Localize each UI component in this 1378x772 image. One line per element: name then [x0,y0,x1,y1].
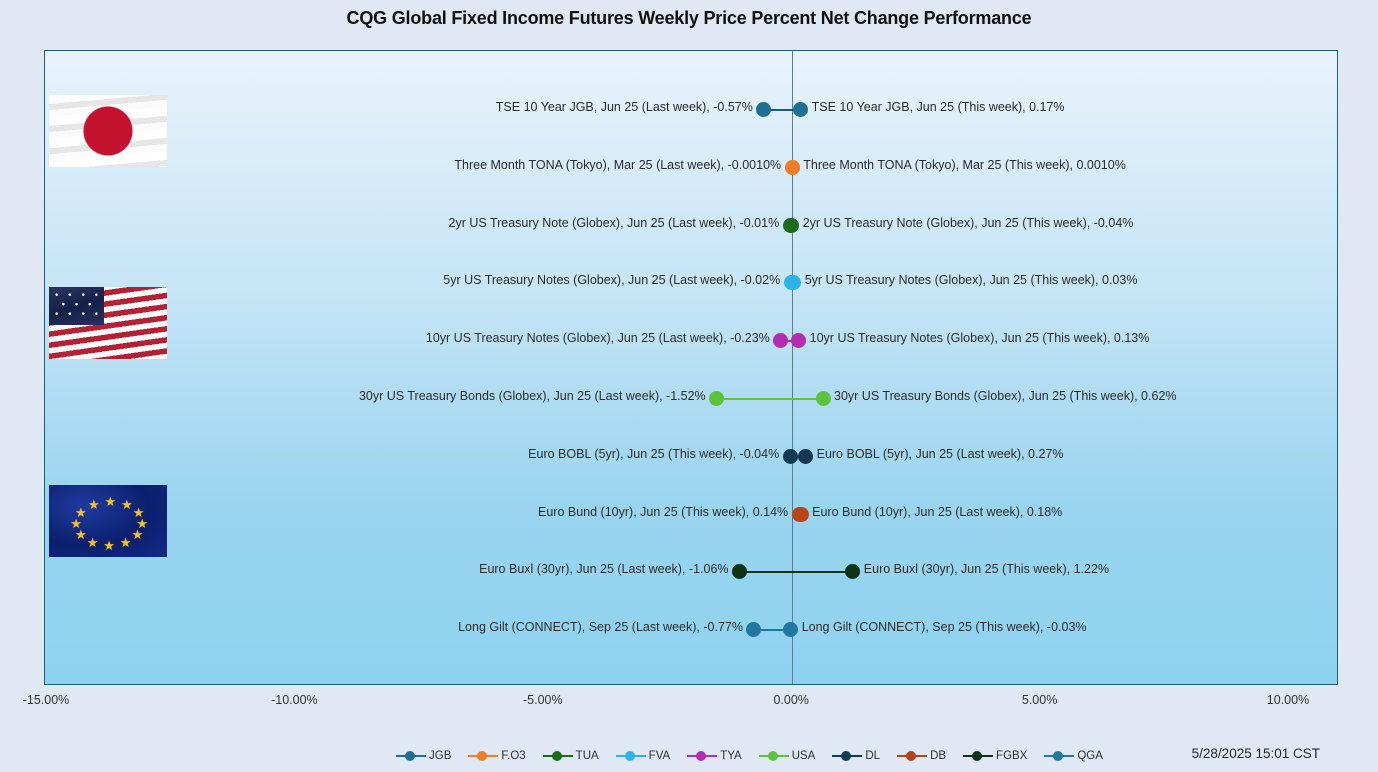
data-point-left[interactable] [773,333,788,348]
data-point-right[interactable] [783,622,798,637]
x-axis: -15.00%-10.00%-5.00%0.00%5.00%10.00% [0,693,1378,715]
data-point-label-left: Euro Bund (10yr), Jun 25 (This week), 0.… [538,505,788,519]
data-point-label-right: Three Month TONA (Tokyo), Mar 25 (This w… [803,158,1126,172]
legend-label: JGB [429,750,451,762]
chart-legend: JGBF.O3TUAFVATYAUSADLDBFGBXQGA [0,746,1378,768]
data-point-right[interactable] [786,275,801,290]
x-axis-tick-label: -5.00% [523,693,563,707]
legend-label: TYA [720,750,742,762]
data-point-label-left: 30yr US Treasury Bonds (Globex), Jun 25 … [359,389,706,403]
legend-marker-icon [616,751,646,762]
data-point-label-right: Euro Buxl (30yr), Jun 25 (This week), 1.… [864,562,1109,576]
data-point-right[interactable] [791,333,806,348]
legend-label: FVA [649,750,671,762]
data-point-left[interactable] [746,622,761,637]
data-point-right[interactable] [793,102,808,117]
data-point-label-left: Euro Buxl (30yr), Jun 25 (Last week), -1… [479,562,728,576]
data-point-label-left: 10yr US Treasury Notes (Globex), Jun 25 … [426,331,770,345]
data-point-right[interactable] [794,507,809,522]
legend-item[interactable]: JGB [396,750,451,762]
data-point-right[interactable] [845,564,860,579]
series-row: Euro Buxl (30yr), Jun 25 (Last week), -1… [45,543,1337,601]
legend-item[interactable]: USA [759,750,816,762]
data-point-left[interactable] [709,391,724,406]
legend-marker-icon [396,751,426,762]
series-row: Three Month TONA (Tokyo), Mar 25 (Last w… [45,139,1337,197]
page-title: CQG Global Fixed Income Futures Weekly P… [0,8,1378,29]
legend-item[interactable]: QGA [1044,750,1103,762]
legend-marker-icon [832,751,862,762]
data-point-label-left: 2yr US Treasury Note (Globex), Jun 25 (L… [449,216,780,230]
legend-item[interactable]: F.O3 [468,750,525,762]
series-row: 5yr US Treasury Notes (Globex), Jun 25 (… [45,254,1337,312]
legend-marker-icon [897,751,927,762]
series-row: Euro BOBL (5yr), Jun 25 (This week), -0.… [45,428,1337,486]
x-axis-tick-label: -10.00% [271,693,318,707]
x-axis-tick-label: -15.00% [23,693,70,707]
legend-label: QGA [1077,750,1103,762]
data-point-label-right: Euro Bund (10yr), Jun 25 (Last week), 0.… [812,505,1062,519]
legend-label: DL [865,750,880,762]
legend-marker-icon [963,751,993,762]
legend-label: FGBX [996,750,1027,762]
legend-marker-icon [1044,751,1074,762]
legend-label: F.O3 [501,750,525,762]
data-point-label-right: Long Gilt (CONNECT), Sep 25 (This week),… [802,620,1087,634]
legend-item[interactable]: DB [897,750,946,762]
data-point-right[interactable] [783,218,798,233]
legend-item[interactable]: TUA [543,750,599,762]
data-point-right[interactable] [785,160,800,175]
legend-marker-icon [468,751,498,762]
legend-item[interactable]: DL [832,750,880,762]
data-point-label-left: 5yr US Treasury Notes (Globex), Jun 25 (… [443,273,780,287]
data-point-left[interactable] [756,102,771,117]
legend-item[interactable]: TYA [687,750,742,762]
series-row: 2yr US Treasury Note (Globex), Jun 25 (L… [45,197,1337,255]
legend-item[interactable]: FVA [616,750,671,762]
legend-label: DB [930,750,946,762]
series-row: 10yr US Treasury Notes (Globex), Jun 25 … [45,312,1337,370]
series-row: TSE 10 Year JGB, Jun 25 (Last week), -0.… [45,81,1337,139]
data-point-left[interactable] [732,564,747,579]
x-axis-tick-label: 10.00% [1267,693,1309,707]
data-point-label-right: 10yr US Treasury Notes (Globex), Jun 25 … [810,331,1150,345]
chart-plot-area: ★ ★ ★ ★ ★ ★ ★ ★ ★ ★ ★ ★ TSE 10 Year JGB,… [44,50,1338,685]
series-connector-line [717,398,823,400]
data-point-label-left: TSE 10 Year JGB, Jun 25 (Last week), -0.… [496,100,753,114]
legend-label: USA [792,750,816,762]
data-point-label-left: Long Gilt (CONNECT), Sep 25 (Last week),… [458,620,743,634]
legend-marker-icon [759,751,789,762]
data-point-label-left: Three Month TONA (Tokyo), Mar 25 (Last w… [454,158,781,172]
data-point-right[interactable] [816,391,831,406]
legend-marker-icon [543,751,573,762]
data-point-label-left: Euro BOBL (5yr), Jun 25 (This week), -0.… [528,447,779,461]
data-point-label-right: 30yr US Treasury Bonds (Globex), Jun 25 … [834,389,1177,403]
series-connector-line [740,571,853,573]
timestamp-label: 5/28/2025 15:01 CST [1192,746,1320,761]
data-point-left[interactable] [783,449,798,464]
series-row: Long Gilt (CONNECT), Sep 25 (Last week),… [45,601,1337,659]
x-axis-tick-label: 5.00% [1022,693,1057,707]
data-point-label-right: Euro BOBL (5yr), Jun 25 (Last week), 0.2… [817,447,1064,461]
data-point-label-right: TSE 10 Year JGB, Jun 25 (This week), 0.1… [812,100,1065,114]
legend-label: TUA [576,750,599,762]
series-row: 30yr US Treasury Bonds (Globex), Jun 25 … [45,370,1337,428]
data-point-label-right: 5yr US Treasury Notes (Globex), Jun 25 (… [805,273,1138,287]
series-row: Euro Bund (10yr), Jun 25 (This week), 0.… [45,486,1337,544]
data-point-right[interactable] [798,449,813,464]
legend-marker-icon [687,751,717,762]
legend-item[interactable]: FGBX [963,750,1027,762]
x-axis-tick-label: 0.00% [773,693,808,707]
data-point-label-right: 2yr US Treasury Note (Globex), Jun 25 (T… [803,216,1134,230]
